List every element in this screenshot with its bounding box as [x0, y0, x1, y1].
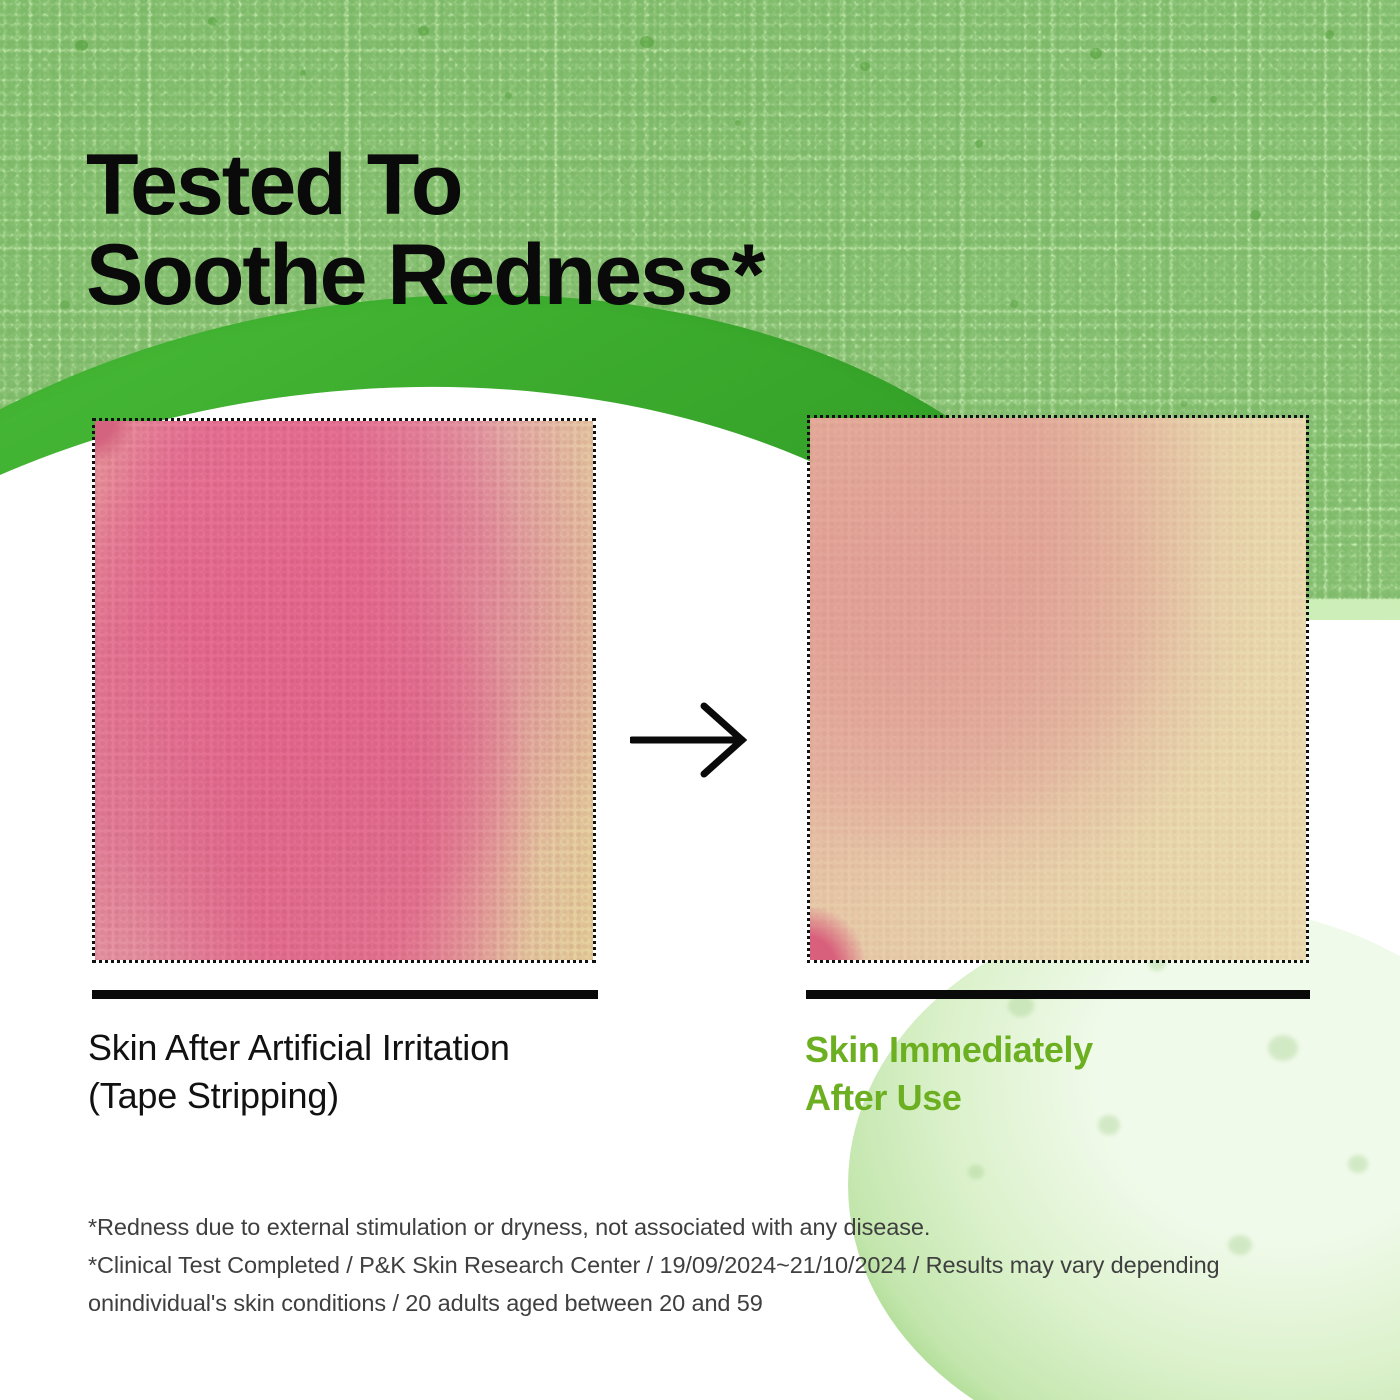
speckle	[735, 120, 741, 126]
promo-graphic: Tested To Soothe Redness* Skin After Art…	[0, 0, 1400, 1400]
skin-corner-highlight	[807, 908, 864, 963]
after-caption-line-1: Skin Immediately	[805, 1029, 1093, 1070]
skin-grain-overlay	[92, 418, 596, 963]
speckle	[60, 300, 70, 309]
speckle	[1210, 96, 1217, 103]
center-white-gap	[598, 600, 813, 1020]
speckle	[208, 17, 217, 26]
headline-line-2: Soothe Redness*	[86, 230, 986, 320]
before-caption-line-1: Skin After Artificial Irritation	[88, 1027, 510, 1068]
speckle	[1090, 48, 1102, 59]
headline-line-1: Tested To	[86, 137, 461, 233]
footnote-line-3: onindividual's skin conditions / 20 adul…	[88, 1284, 1328, 1322]
speckle	[418, 26, 429, 36]
after-image-panel	[807, 415, 1309, 963]
arrow-right-icon	[630, 700, 752, 780]
speckle	[1250, 210, 1261, 220]
skin-corner-highlight	[92, 418, 133, 463]
before-caption-line-2: (Tape Stripping)	[88, 1072, 688, 1120]
speckle	[75, 40, 88, 51]
speckle	[1010, 300, 1018, 308]
speckle	[300, 70, 306, 76]
footnote-line-1: *Redness due to external stimulation or …	[88, 1208, 1328, 1246]
before-image-panel	[92, 418, 596, 963]
speckle	[860, 62, 870, 71]
speckle	[505, 92, 512, 99]
speckle	[640, 36, 654, 48]
after-caption-line-2: After Use	[805, 1074, 1325, 1122]
after-caption: Skin Immediately After Use	[805, 1026, 1325, 1121]
page-title: Tested To Soothe Redness*	[86, 140, 986, 321]
speckle	[1180, 400, 1188, 407]
speckle	[1325, 30, 1334, 39]
after-caption-rule	[806, 990, 1310, 999]
footnote-disclaimer: *Redness due to external stimulation or …	[88, 1208, 1328, 1322]
before-caption-rule	[92, 990, 598, 999]
footnote-line-2: *Clinical Test Completed / P&K Skin Rese…	[88, 1246, 1328, 1284]
skin-grain-overlay	[807, 415, 1309, 963]
before-caption: Skin After Artificial Irritation (Tape S…	[88, 1024, 688, 1119]
